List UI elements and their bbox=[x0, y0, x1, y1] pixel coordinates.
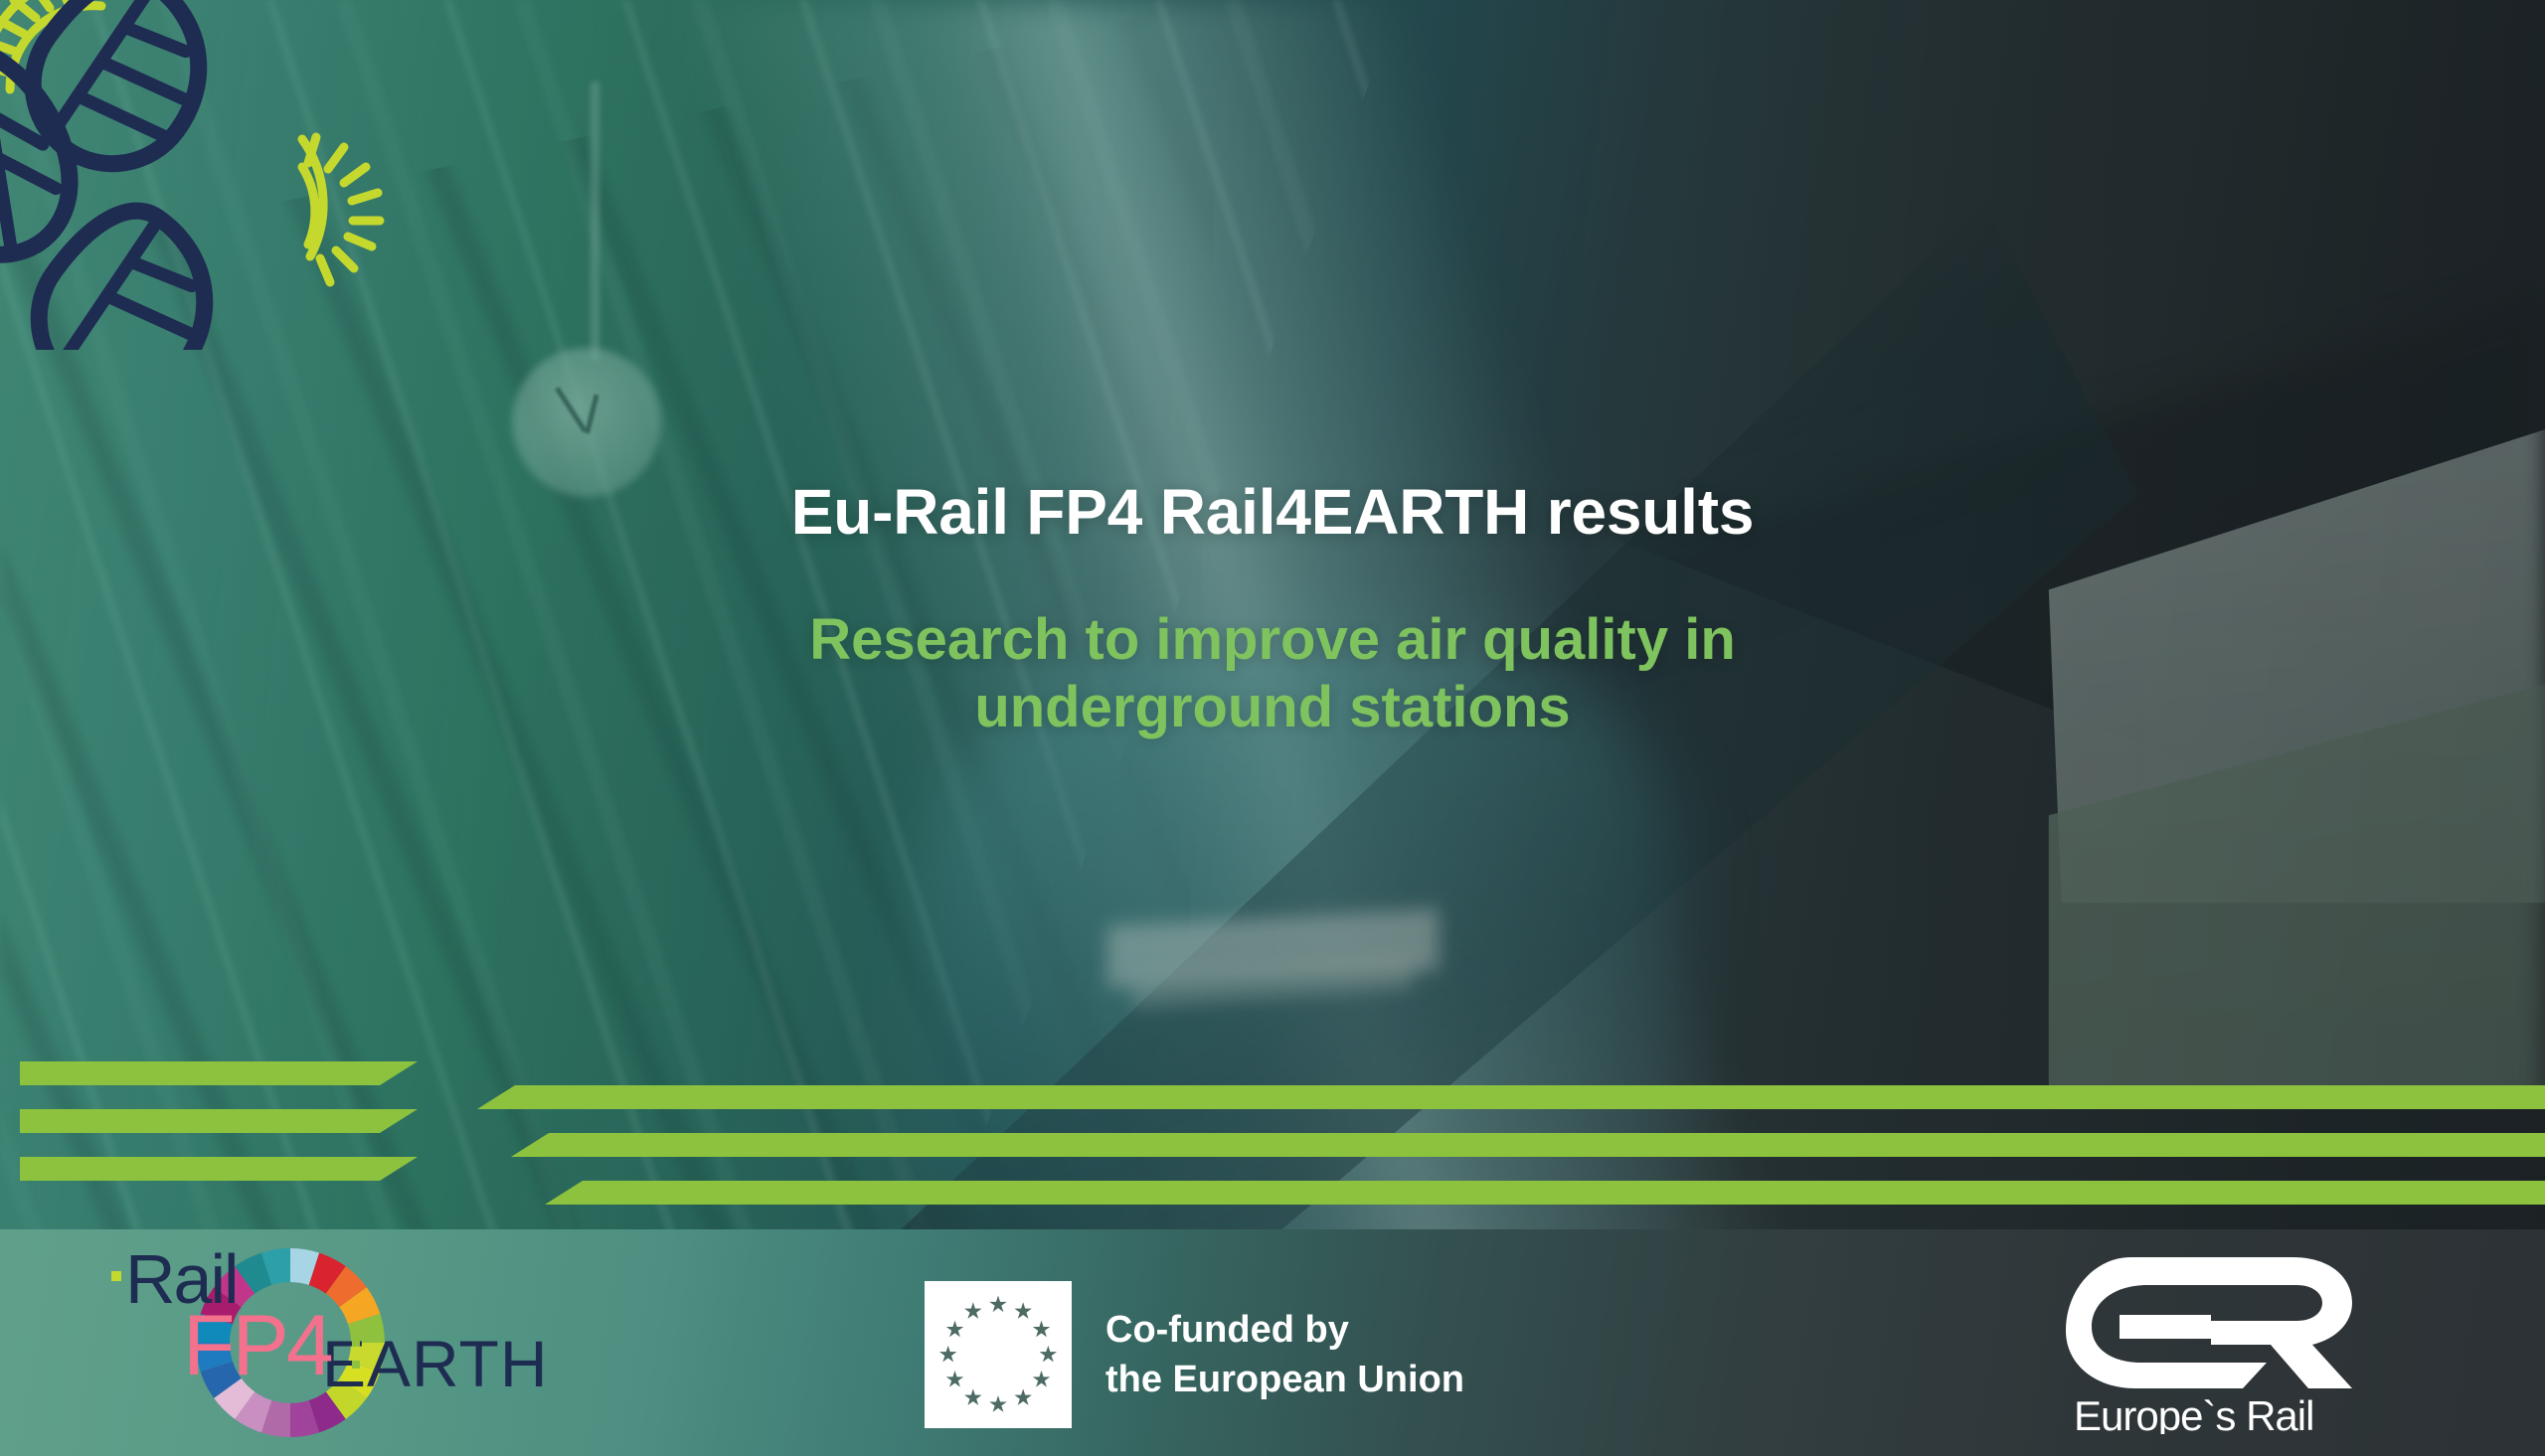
page-subtitle: Research to improve air quality in under… bbox=[0, 606, 2545, 741]
stripe-dash-3 bbox=[20, 1157, 418, 1181]
eu-funding-line-2: the European Union bbox=[1105, 1355, 1464, 1404]
europes-rail-logo: Europe`s Rail bbox=[2062, 1235, 2370, 1434]
stripe-dash-1 bbox=[20, 1061, 418, 1085]
stripe-bar-3 bbox=[0, 1181, 2545, 1205]
eu-flag-icon bbox=[925, 1281, 1072, 1428]
stripe-bar-2 bbox=[0, 1133, 2545, 1157]
eu-funding-line-1: Co-funded by bbox=[1105, 1305, 1464, 1355]
title-block: Eu-Rail FP4 Rail4EARTH results Research … bbox=[0, 477, 2545, 740]
page-subtitle-line-1: Research to improve air quality in bbox=[0, 606, 2545, 674]
stripe-dash-2 bbox=[20, 1109, 418, 1133]
svg-text:FP4: FP4 bbox=[183, 1298, 332, 1393]
page-title: Eu-Rail FP4 Rail4EARTH results bbox=[0, 477, 2545, 549]
europes-rail-monogram-icon bbox=[2066, 1257, 2352, 1388]
rail4earth-word-earth: EARTH bbox=[322, 1327, 549, 1400]
green-stripe-band bbox=[0, 1069, 2545, 1218]
co-funded-by-the-european-union-logo: Co-funded by the European Union bbox=[925, 1281, 1464, 1428]
stripe-bar-1 bbox=[0, 1085, 2545, 1109]
eu-funding-text: Co-funded by the European Union bbox=[1105, 1305, 1464, 1404]
presentation-slide: Eu-Rail FP4 Rail4EARTH results Research … bbox=[0, 0, 2545, 1456]
page-subtitle-line-2: underground stations bbox=[0, 674, 2545, 741]
rail4earth-logo: Rail EARTH FP4 bbox=[95, 1235, 602, 1444]
europes-rail-wordmark: Europe`s Rail bbox=[2074, 1392, 2313, 1434]
rail4earth-word-fp4: FP4 bbox=[183, 1298, 332, 1393]
